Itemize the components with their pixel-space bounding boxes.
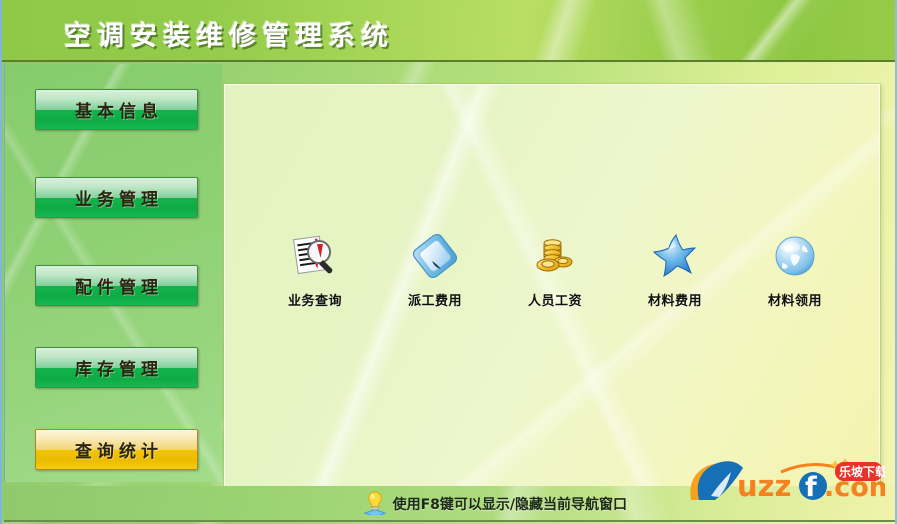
module-item-material-fee[interactable]: 材料费用 (625, 231, 725, 309)
app-header: 空调安装维修管理系统 (2, 0, 897, 62)
module-item-label: 派工费用 (408, 290, 462, 309)
module-item-staff-salary[interactable]: 人员工资 (505, 231, 605, 309)
sidebar-item-label: 业务管理 (36, 178, 197, 217)
globe-icon (770, 231, 820, 281)
sidebar-item-label: 查询统计 (36, 430, 197, 469)
sidebar-item-business-management[interactable]: 业务管理 (35, 177, 198, 218)
document-magnifier-icon (290, 231, 340, 281)
module-icon-grid: 业务查询 (265, 219, 845, 309)
sidebar-item-label: 库存管理 (36, 348, 197, 387)
sidebar-item-label: 基本信息 (36, 90, 197, 129)
module-item-business-query[interactable]: 业务查询 (265, 231, 365, 309)
module-item-dispatch-fee[interactable]: 派工费用 (385, 231, 485, 309)
module-item-label: 材料费用 (648, 290, 702, 309)
main-content-panel: 业务查询 (224, 84, 880, 488)
lightbulb-icon (362, 489, 388, 519)
sidebar-item-basic-info[interactable]: 基本信息 (35, 89, 198, 130)
navigation-sidebar: 基本信息 业务管理 配件管理 库存管理 查询统计 (4, 64, 222, 482)
status-bar: 使用F8键可以显示/隐藏当前导航窗口 (4, 486, 897, 522)
blue-star-icon (650, 231, 700, 281)
application-window: 空调安装维修管理系统 基本信息 业务管理 配件管理 库存管理 查询统计 (0, 0, 897, 524)
sidebar-item-parts-management[interactable]: 配件管理 (35, 265, 198, 306)
sidebar-item-label: 配件管理 (36, 266, 197, 305)
status-hint-group: 使用F8键可以显示/隐藏当前导航窗口 (362, 489, 627, 519)
sidebar-item-query-statistics[interactable]: 查询统计 (35, 429, 198, 470)
module-item-label: 人员工资 (528, 290, 582, 309)
module-item-material-requisition[interactable]: 材料领用 (745, 231, 845, 309)
gold-coins-icon (530, 231, 580, 281)
blue-diamond-note-icon (410, 231, 460, 281)
page-title: 空调安装维修管理系统 (64, 14, 394, 53)
sidebar-item-inventory-management[interactable]: 库存管理 (35, 347, 198, 388)
status-hint-text: 使用F8键可以显示/隐藏当前导航窗口 (393, 494, 627, 514)
module-item-label: 业务查询 (288, 290, 342, 309)
module-item-label: 材料领用 (768, 290, 822, 309)
